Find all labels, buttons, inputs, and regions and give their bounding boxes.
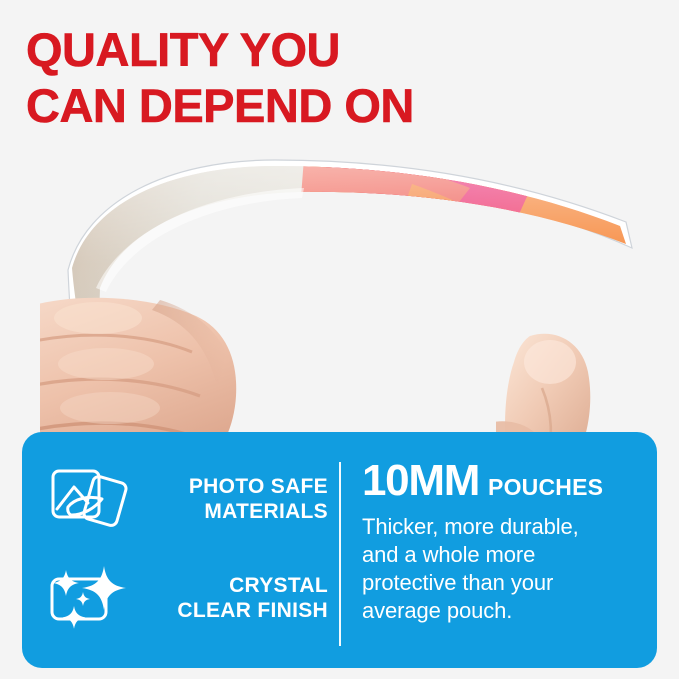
spec-description-line-2: and a whole more — [362, 541, 648, 569]
headline-line-1: QUALITY YOU — [26, 22, 626, 78]
product-marketing-image: QUALITY YOU CAN DEPEND ON — [0, 0, 679, 679]
photo-frames-icon — [38, 457, 134, 541]
spec-unit: POUCHES — [488, 473, 603, 501]
spec-description: Thicker, more durable, and a whole more … — [362, 513, 648, 625]
feature-photo-safe: PHOTO SAFE MATERIALS — [38, 454, 334, 544]
spec-value: 10MM — [362, 458, 479, 504]
feature-photo-safe-line-2: MATERIALS — [204, 500, 328, 523]
spec-column: 10MM POUCHES Thicker, more durable, and … — [362, 458, 648, 625]
feature-photo-safe-line-1: PHOTO SAFE — [189, 475, 328, 498]
page-title: QUALITY YOU CAN DEPEND ON — [26, 22, 626, 134]
spec-description-line-4: average pouch. — [362, 597, 648, 625]
spec-description-line-3: protective than your — [362, 569, 648, 597]
panel-divider — [339, 462, 341, 646]
spec-description-line-1: Thicker, more durable, — [362, 513, 648, 541]
headline-line-2: CAN DEPEND ON — [26, 78, 626, 134]
feature-crystal-clear: CRYSTAL CLEAR FINISH — [38, 552, 334, 644]
feature-crystal-clear-line-2: CLEAR FINISH — [177, 599, 328, 622]
feature-panel: PHOTO SAFE MATERIALS — [22, 432, 657, 668]
feature-crystal-clear-line-1: CRYSTAL — [229, 574, 328, 597]
feature-crystal-clear-label: CRYSTAL CLEAR FINISH — [134, 573, 334, 623]
feature-photo-safe-label: PHOTO SAFE MATERIALS — [134, 474, 334, 524]
spec-headline: 10MM POUCHES — [362, 458, 648, 504]
sparkle-card-icon — [38, 556, 134, 640]
product-photo — [0, 140, 679, 470]
